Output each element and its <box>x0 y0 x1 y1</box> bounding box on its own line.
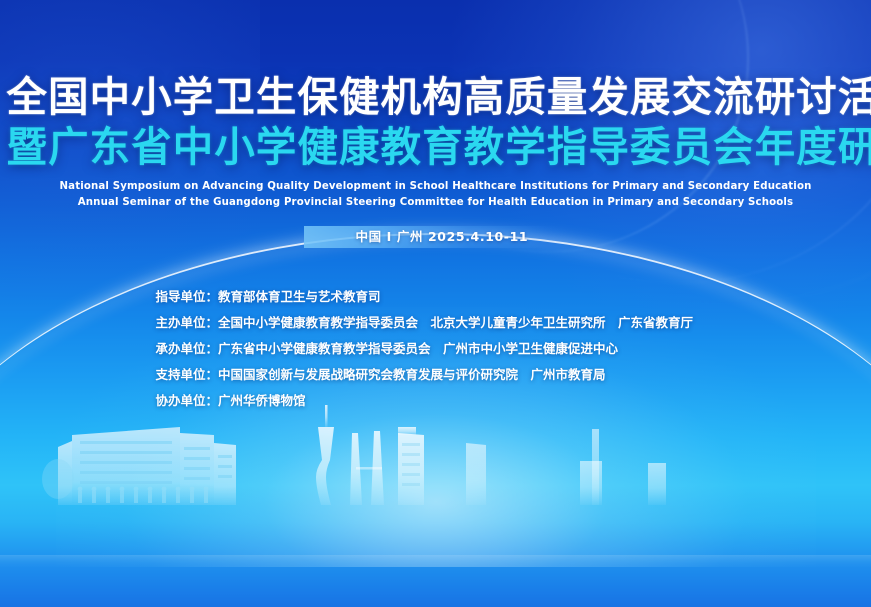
organizer-value: 中国国家创新与发展战略研究会教育发展与评价研究院 广州市教育局 <box>218 364 606 383</box>
organizer-value: 广州华侨博物馆 <box>218 390 306 409</box>
organizer-value: 全国中小学健康教育教学指导委员会 北京大学儿童青少年卫生研究所 广东省教育厅 <box>218 312 693 331</box>
tall-tower-group <box>580 429 602 505</box>
organizer-value: 教育部体育卫生与艺术教育司 <box>218 286 381 305</box>
title-line-2: 暨广东省中小学健康教育教学指导委员会年度研讨活动 <box>7 122 865 172</box>
organizer-label: 承办单位： <box>156 338 219 357</box>
organizer-row-guidance: 指导单位： 教育部体育卫生与艺术教育司 <box>156 286 716 305</box>
poster-title: 全国中小学卫生保健机构高质量发展交流研讨活动 暨广东省中小学健康教育教学指导委员… <box>0 72 871 172</box>
title-line-1: 全国中小学卫生保健机构高质量发展交流研讨活动 <box>7 72 865 122</box>
office-block-group <box>466 443 486 505</box>
organizer-label: 协办单位： <box>156 390 219 409</box>
organizer-list: 指导单位： 教育部体育卫生与艺术教育司 主办单位： 全国中小学健康教育教学指导委… <box>0 286 871 416</box>
event-badge-wrap: 中国 I 广州 2025.4.10-11 <box>0 226 871 248</box>
organizer-row-support: 支持单位： 中国国家创新与发展战略研究会教育发展与评价研究院 广州市教育局 <box>156 364 716 383</box>
organizer-label: 指导单位： <box>156 286 219 305</box>
organizer-row-organizer: 承办单位： 广东省中小学健康教育教学指导委员会 广州市中小学卫生健康促进中心 <box>156 338 716 357</box>
short-tower-group <box>648 463 666 505</box>
organizer-row-host: 主办单位： 全国中小学健康教育教学指导委员会 北京大学儿童青少年卫生研究所 广东… <box>156 312 716 331</box>
city-skyline <box>0 405 871 535</box>
canton-tower-group <box>316 405 334 505</box>
subtitle-line-2: Annual Seminar of the Guangdong Provinci… <box>13 194 858 210</box>
organizer-value: 广东省中小学健康教育教学指导委员会 广州市中小学卫生健康促进中心 <box>218 338 618 357</box>
conference-poster: 全国中小学卫生保健机构高质量发展交流研讨活动 暨广东省中小学健康教育教学指导委员… <box>0 0 871 607</box>
event-badge-text: 中国 I 广州 2025.4.10-11 <box>356 226 529 248</box>
poster-subtitle: National Symposium on Advancing Quality … <box>0 178 871 210</box>
west-tower-group <box>398 427 424 505</box>
organizer-label: 主办单位： <box>156 312 219 331</box>
organizer-row-coorganizer: 协办单位： 广州华侨博物馆 <box>156 390 716 409</box>
subtitle-line-1: National Symposium on Advancing Quality … <box>13 178 858 194</box>
twin-spire-tower-group <box>350 431 384 505</box>
organizer-label: 支持单位： <box>156 364 219 383</box>
event-badge: 中国 I 广州 2025.4.10-11 <box>304 226 568 248</box>
school-building-group <box>42 427 236 505</box>
